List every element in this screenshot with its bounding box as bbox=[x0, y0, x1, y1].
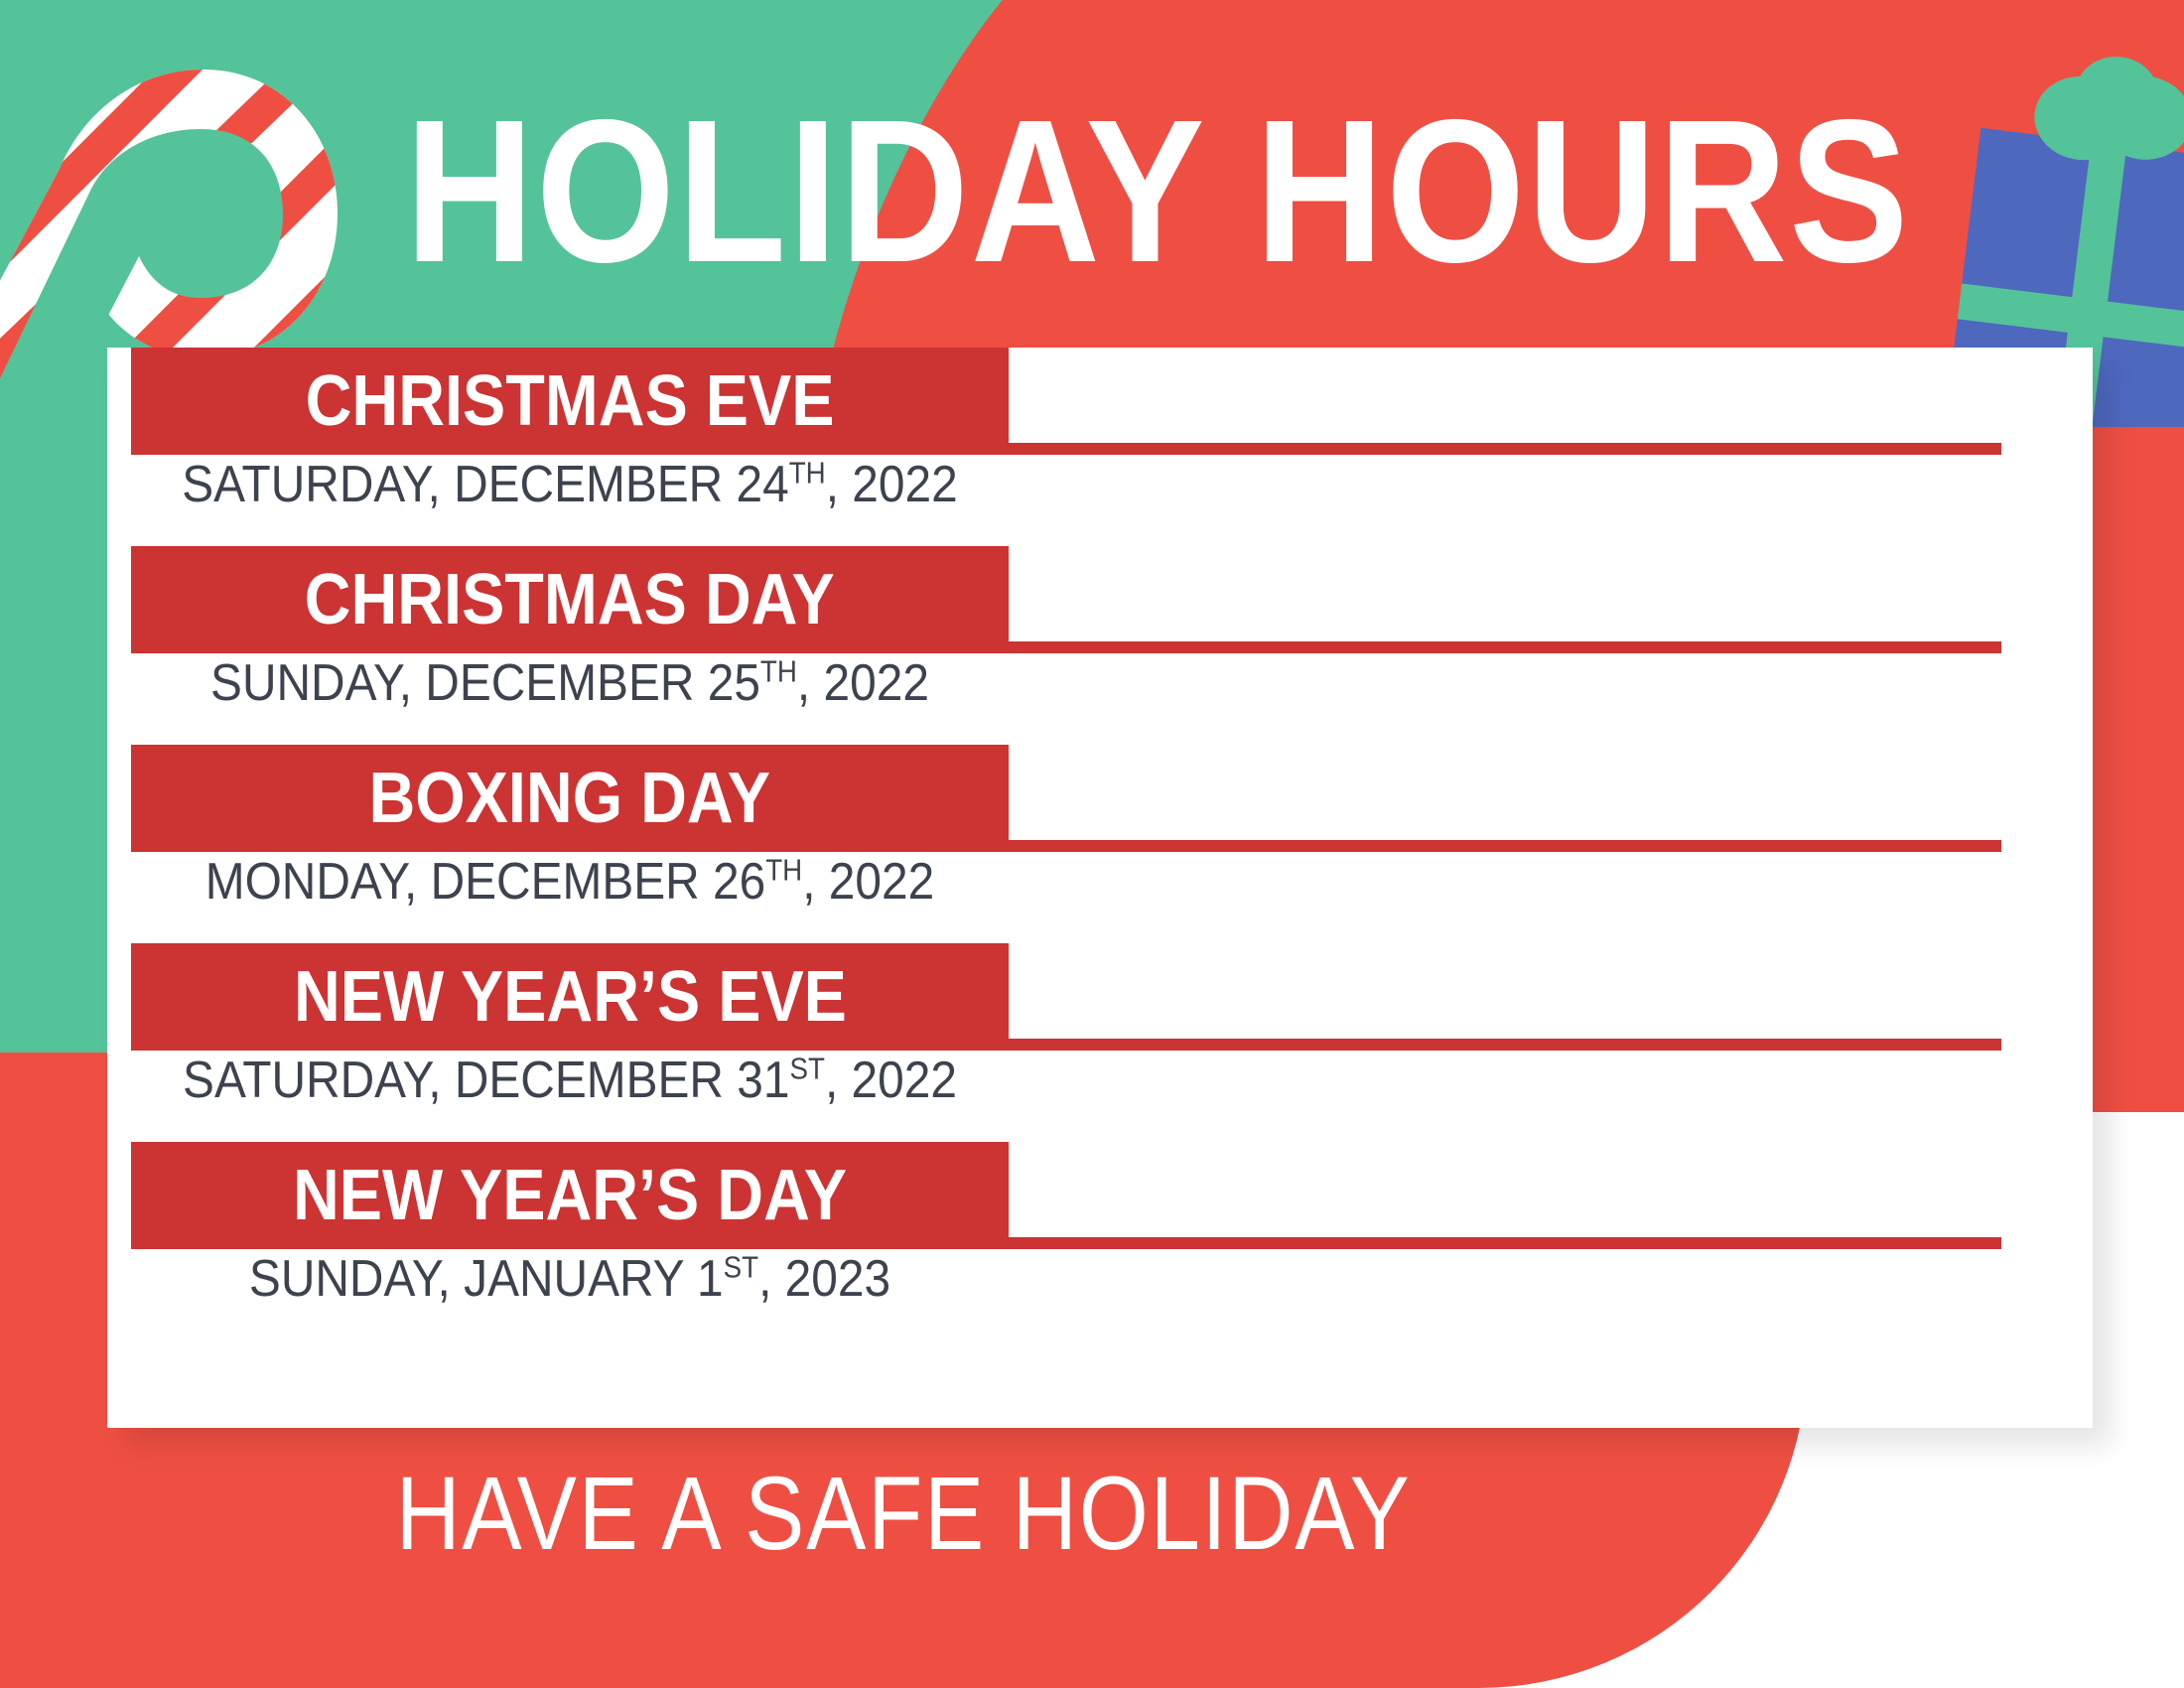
holiday-date-weekday: SUNDAY, JANUARY 1 bbox=[249, 1250, 724, 1308]
hours-write-in-rule[interactable] bbox=[1009, 641, 2001, 653]
holiday-name: NEW YEAR’S EVE bbox=[294, 961, 847, 1033]
holiday-date: SATURDAY, DECEMBER 31ST, 2022 bbox=[166, 1053, 973, 1108]
hours-card: CHRISTMAS EVE SATURDAY, DECEMBER 24TH, 2… bbox=[107, 348, 2093, 1428]
page-title: HOLIDAY HOURS bbox=[131, 89, 2053, 293]
holiday-hours-poster: HOLIDAY HOURS CHRISTMAS EVE SATURDAY, DE… bbox=[0, 0, 2184, 1688]
holiday-date-year: , 2022 bbox=[826, 456, 958, 513]
holiday-date-year: , 2022 bbox=[802, 853, 934, 911]
table-row: CHRISTMAS DAY SUNDAY, DECEMBER 25TH, 202… bbox=[107, 546, 2093, 745]
holiday-date-ordinal: TH bbox=[765, 855, 802, 888]
holiday-name: BOXING DAY bbox=[369, 763, 770, 834]
holiday-bar-wrap: BOXING DAY bbox=[107, 745, 2093, 852]
holiday-date-ordinal: TH bbox=[760, 656, 797, 689]
holiday-date-year: , 2023 bbox=[758, 1250, 890, 1308]
holiday-date: MONDAY, DECEMBER 26TH, 2022 bbox=[166, 854, 973, 910]
holiday-date: SUNDAY, JANUARY 1ST, 2023 bbox=[166, 1251, 973, 1307]
holiday-date-weekday: SATURDAY, DECEMBER 31 bbox=[183, 1052, 789, 1109]
hours-write-in-rule[interactable] bbox=[1009, 443, 2001, 455]
holiday-date-year: , 2022 bbox=[825, 1052, 957, 1109]
table-row: CHRISTMAS EVE SATURDAY, DECEMBER 24TH, 2… bbox=[107, 348, 2093, 546]
hours-write-in-rule[interactable] bbox=[1009, 1237, 2001, 1249]
holiday-name: CHRISTMAS DAY bbox=[305, 564, 835, 635]
holiday-date-ordinal: ST bbox=[724, 1252, 758, 1285]
holiday-date: SUNDAY, DECEMBER 25TH, 2022 bbox=[166, 655, 973, 711]
hours-write-in-rule[interactable] bbox=[1009, 840, 2001, 852]
holiday-name-bar: BOXING DAY bbox=[131, 745, 1009, 852]
holiday-name-bar: CHRISTMAS EVE bbox=[131, 348, 1009, 455]
holiday-date-ordinal: TH bbox=[789, 458, 826, 491]
holiday-name: NEW YEAR’S DAY bbox=[293, 1160, 847, 1231]
holiday-bar-wrap: NEW YEAR’S DAY bbox=[107, 1142, 2093, 1249]
holiday-name-bar: NEW YEAR’S EVE bbox=[131, 943, 1009, 1051]
hours-row-list: CHRISTMAS EVE SATURDAY, DECEMBER 24TH, 2… bbox=[107, 348, 2093, 1355]
table-row: NEW YEAR’S DAY SUNDAY, JANUARY 1ST, 2023 bbox=[107, 1142, 2093, 1355]
holiday-name: CHRISTMAS EVE bbox=[306, 365, 835, 437]
holiday-date-ordinal: ST bbox=[789, 1054, 824, 1086]
holiday-date-weekday: SATURDAY, DECEMBER 24 bbox=[182, 456, 788, 513]
table-row: NEW YEAR’S EVE SATURDAY, DECEMBER 31ST, … bbox=[107, 943, 2093, 1142]
holiday-date-weekday: MONDAY, DECEMBER 26 bbox=[205, 853, 765, 911]
hours-write-in-rule[interactable] bbox=[1009, 1039, 2001, 1051]
holiday-name-bar: CHRISTMAS DAY bbox=[131, 546, 1009, 653]
holiday-bar-wrap: CHRISTMAS DAY bbox=[107, 546, 2093, 653]
holiday-date: SATURDAY, DECEMBER 24TH, 2022 bbox=[166, 457, 973, 512]
holiday-bar-wrap: CHRISTMAS EVE bbox=[107, 348, 2093, 455]
table-row: BOXING DAY MONDAY, DECEMBER 26TH, 2022 bbox=[107, 745, 2093, 943]
footer-message: HAVE A SAFE HOLIDAY bbox=[126, 1460, 1680, 1569]
holiday-date-weekday: SUNDAY, DECEMBER 25 bbox=[210, 654, 760, 712]
holiday-date-year: , 2022 bbox=[797, 654, 929, 712]
holiday-name-bar: NEW YEAR’S DAY bbox=[131, 1142, 1009, 1249]
holiday-bar-wrap: NEW YEAR’S EVE bbox=[107, 943, 2093, 1051]
